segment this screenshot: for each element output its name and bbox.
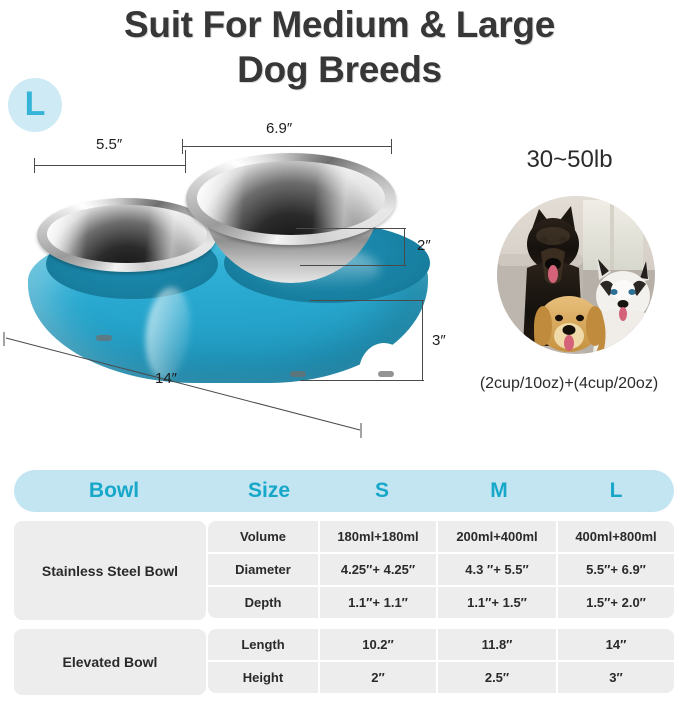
title-line-2: Dog Breeds [0, 47, 679, 92]
cell-diameter-l: 5.5″+ 6.9″ [558, 554, 674, 585]
table-row: Height 2″ 2.5″ 3″ [208, 662, 674, 693]
group-label-stainless-steel-bowl: Stainless Steel Bowl [14, 521, 206, 620]
cell-length-m: 11.8″ [438, 629, 556, 660]
header-cell-bowl: Bowl [14, 479, 214, 503]
cell-length-s: 10.2″ [320, 629, 436, 660]
row-label-length: Length [208, 629, 318, 660]
row-label-height: Height [208, 662, 318, 693]
cell-diameter-s: 4.25″+ 4.25″ [320, 554, 436, 585]
group-rows-stainless: Volume 180ml+180ml 200ml+400ml 400ml+800… [208, 521, 674, 620]
group-rows-elevated: Length 10.2″ 11.8″ 14″ Height 2″ 2.5″ 3″ [208, 629, 674, 695]
cell-diameter-m: 4.3 ″+ 5.5″ [438, 554, 556, 585]
cell-depth-l: 1.5″+ 2.0″ [558, 587, 674, 618]
infographic-canvas: Suit For Medium & Large Dog Breeds L 5.5… [0, 0, 679, 711]
table-row: Volume 180ml+180ml 200ml+400ml 400ml+800… [208, 521, 674, 552]
cell-volume-s: 180ml+180ml [320, 521, 436, 552]
cell-height-s: 2″ [320, 662, 436, 693]
size-badge-label: L [25, 87, 46, 121]
page-title: Suit For Medium & Large Dog Breeds [0, 0, 679, 92]
row-label-depth: Depth [208, 587, 318, 618]
dim-label-stand-length: 14″ [155, 370, 177, 387]
header-cell-s: S [324, 479, 440, 503]
cell-depth-m: 1.1″+ 1.5″ [438, 587, 556, 618]
table-row: Depth 1.1″+ 1.1″ 1.1″+ 1.5″ 1.5″+ 2.0″ [208, 587, 674, 618]
table-row: Diameter 4.25″+ 4.25″ 4.3 ″+ 5.5″ 5.5″+ … [208, 554, 674, 585]
cell-volume-m: 200ml+400ml [438, 521, 556, 552]
cell-height-m: 2.5″ [438, 662, 556, 693]
title-line-1: Suit For Medium & Large [124, 4, 555, 45]
dim-line-stand-length [0, 120, 470, 450]
header-cell-l: L [558, 479, 674, 503]
cell-volume-l: 400ml+800ml [558, 521, 674, 552]
group-label-elevated-bowl: Elevated Bowl [14, 629, 206, 695]
cell-length-l: 14″ [558, 629, 674, 660]
spec-group-stainless-steel-bowl: Stainless Steel Bowl Volume 180ml+180ml … [14, 521, 674, 620]
header-cell-size: Size [214, 479, 324, 503]
dog-breeds-photo-art [497, 196, 655, 354]
spec-table-header-row: Bowl Size S M L [14, 470, 674, 512]
spec-group-elevated-bowl: Elevated Bowl Length 10.2″ 11.8″ 14″ Hei… [14, 629, 674, 695]
header-cell-m: M [440, 479, 558, 503]
spec-table: Bowl Size S M L Stainless Steel Bowl Vol… [14, 470, 674, 695]
capacity-label: (2cup/10oz)+(4cup/20oz) [455, 375, 679, 393]
row-label-volume: Volume [208, 521, 318, 552]
table-row: Length 10.2″ 11.8″ 14″ [208, 629, 674, 660]
dog-breeds-photo [497, 196, 655, 354]
product-illustration: 5.5″ 6.9″ [0, 120, 470, 450]
row-label-diameter: Diameter [208, 554, 318, 585]
cell-depth-s: 1.1″+ 1.1″ [320, 587, 436, 618]
weight-range-label: 30~50lb [460, 146, 679, 174]
cell-height-l: 3″ [558, 662, 674, 693]
